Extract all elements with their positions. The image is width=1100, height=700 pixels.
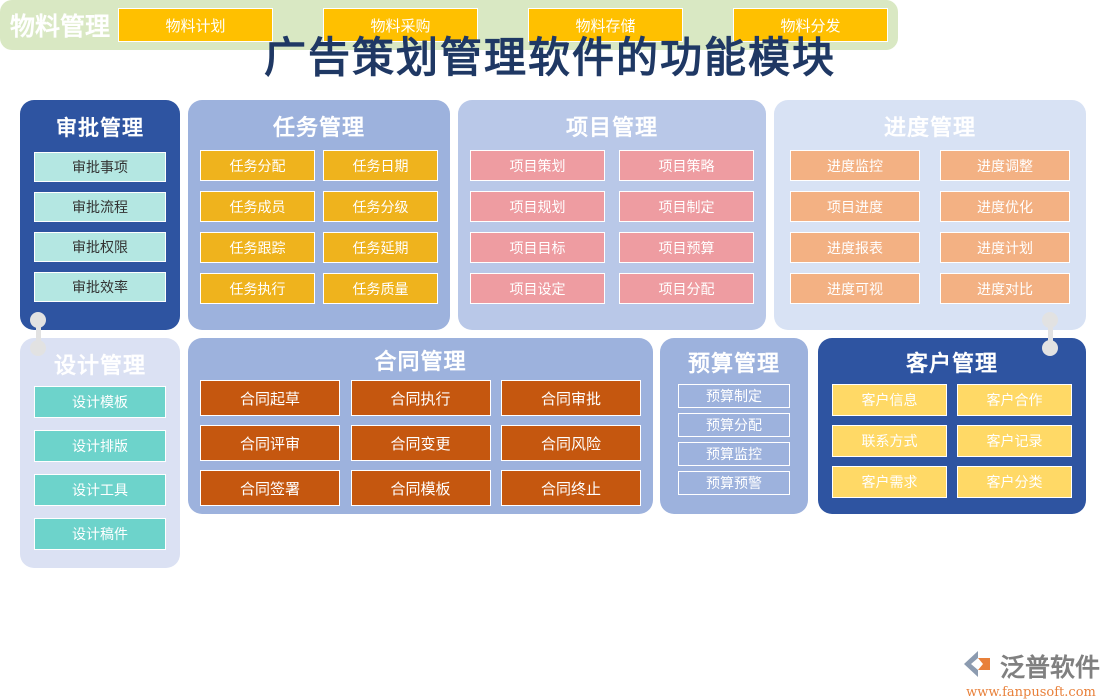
module-item[interactable]: 项目策划 [470,150,605,181]
module-item[interactable]: 联系方式 [832,425,947,457]
module-item[interactable]: 项目进度 [790,191,920,222]
panel-items-contract: 合同起草 合同执行 合同审批 合同评审 合同变更 合同风险 合同签署 合同模板 … [188,376,653,515]
module-item[interactable]: 合同评审 [200,425,340,461]
module-item[interactable]: 设计模板 [34,386,166,418]
panel-title-budget: 预算管理 [660,346,808,378]
module-item[interactable]: 项目设定 [470,273,605,304]
connector-dot-bottom [30,340,46,356]
module-item[interactable]: 设计工具 [34,474,166,506]
module-item[interactable]: 客户分类 [957,466,1072,498]
module-item[interactable]: 进度报表 [790,232,920,263]
module-item[interactable]: 进度计划 [940,232,1070,263]
panel-items-customer: 客户信息 客户合作 联系方式 客户记录 客户需求 客户分类 [818,378,1086,507]
module-item[interactable]: 预算制定 [678,384,790,408]
panel-items-budget: 预算制定 预算分配 预算监控 预算预警 [660,378,808,500]
module-item[interactable]: 设计排版 [34,430,166,462]
module-item[interactable]: 合同执行 [351,380,491,416]
module-item[interactable]: 项目规划 [470,191,605,222]
module-item[interactable]: 任务成员 [200,191,315,222]
panel-items-design: 设计模板 设计排版 设计工具 设计稿件 [20,380,180,562]
panel-title-contract: 合同管理 [188,344,653,376]
module-item[interactable]: 审批事项 [34,152,166,182]
panel-title-approval: 审批管理 [20,112,180,142]
module-item[interactable]: 合同变更 [351,425,491,461]
brand-name: 泛普软件 [1000,648,1100,684]
module-item[interactable]: 审批流程 [34,192,166,222]
module-item[interactable]: 客户合作 [957,384,1072,416]
panel-customer-management[interactable]: 客户管理 客户信息 客户合作 联系方式 客户记录 客户需求 客户分类 [818,338,1086,514]
brand-url: www.fanpusoft.com [966,685,1096,700]
module-item[interactable]: 设计稿件 [34,518,166,550]
module-item[interactable]: 任务质量 [323,273,438,304]
module-item[interactable]: 合同终止 [501,470,641,506]
module-item[interactable]: 客户信息 [832,384,947,416]
module-item[interactable]: 进度可视 [790,273,920,304]
panel-items-progress: 进度监控 进度调整 项目进度 进度优化 进度报表 进度计划 进度可视 进度对比 [774,142,1086,314]
panel-progress-management[interactable]: 进度管理 进度监控 进度调整 项目进度 进度优化 进度报表 进度计划 进度可视 … [774,100,1086,330]
module-item[interactable]: 任务跟踪 [200,232,315,263]
module-item[interactable]: 进度监控 [790,150,920,181]
module-item[interactable]: 合同模板 [351,470,491,506]
fanpu-logo-icon [962,649,994,684]
panel-task-management[interactable]: 任务管理 任务分配 任务日期 任务成员 任务分级 任务跟踪 任务延期 任务执行 … [188,100,450,330]
panel-budget-management[interactable]: 预算管理 预算制定 预算分配 预算监控 预算预警 [660,338,808,514]
module-item[interactable]: 任务日期 [323,150,438,181]
panel-contract-management[interactable]: 合同管理 合同起草 合同执行 合同审批 合同评审 合同变更 合同风险 合同签署 … [188,338,653,514]
panel-title-project: 项目管理 [458,110,766,142]
logo-row: 泛普软件 [962,648,1100,684]
connector-pin-right [1040,312,1060,358]
module-item[interactable]: 进度优化 [940,191,1070,222]
connector-pin-left [28,312,48,358]
panel-project-management[interactable]: 项目管理 项目策划 项目策略 项目规划 项目制定 项目目标 项目预算 项目设定 … [458,100,766,330]
module-item[interactable]: 合同起草 [200,380,340,416]
module-item[interactable]: 任务延期 [323,232,438,263]
module-item[interactable]: 项目制定 [619,191,754,222]
module-item[interactable]: 进度调整 [940,150,1070,181]
module-item[interactable]: 客户记录 [957,425,1072,457]
connector-dot-bottom [1042,340,1058,356]
module-item[interactable]: 审批效率 [34,272,166,302]
module-item[interactable]: 项目策略 [619,150,754,181]
module-item[interactable]: 预算预警 [678,471,790,495]
module-item[interactable]: 合同签署 [200,470,340,506]
brand-logo: 泛普软件 www.fanpusoft.com [962,648,1100,700]
module-item[interactable]: 任务分配 [200,150,315,181]
panel-approval-management[interactable]: 审批管理 审批事项 审批流程 审批权限 审批效率 [20,100,180,330]
panel-design-management[interactable]: 设计管理 设计模板 设计排版 设计工具 设计稿件 [20,338,180,568]
panel-title-task: 任务管理 [188,110,450,142]
panel-title-progress: 进度管理 [774,110,1086,142]
panel-items-project: 项目策划 项目策略 项目规划 项目制定 项目目标 项目预算 项目设定 项目分配 [458,142,766,314]
module-item[interactable]: 审批权限 [34,232,166,262]
module-item[interactable]: 任务执行 [200,273,315,304]
module-item[interactable]: 客户需求 [832,466,947,498]
module-item[interactable]: 项目目标 [470,232,605,263]
module-item[interactable]: 项目分配 [619,273,754,304]
panel-items-task: 任务分配 任务日期 任务成员 任务分级 任务跟踪 任务延期 任务执行 任务质量 [188,142,450,314]
module-item[interactable]: 合同审批 [501,380,641,416]
page-title: 广告策划管理软件的功能模块 [0,24,1100,85]
module-item[interactable]: 进度对比 [940,273,1070,304]
panel-items-approval: 审批事项 审批流程 审批权限 审批效率 [20,142,180,312]
module-item[interactable]: 任务分级 [323,191,438,222]
module-item[interactable]: 合同风险 [501,425,641,461]
module-item[interactable]: 预算监控 [678,442,790,466]
module-item[interactable]: 预算分配 [678,413,790,437]
module-item[interactable]: 项目预算 [619,232,754,263]
